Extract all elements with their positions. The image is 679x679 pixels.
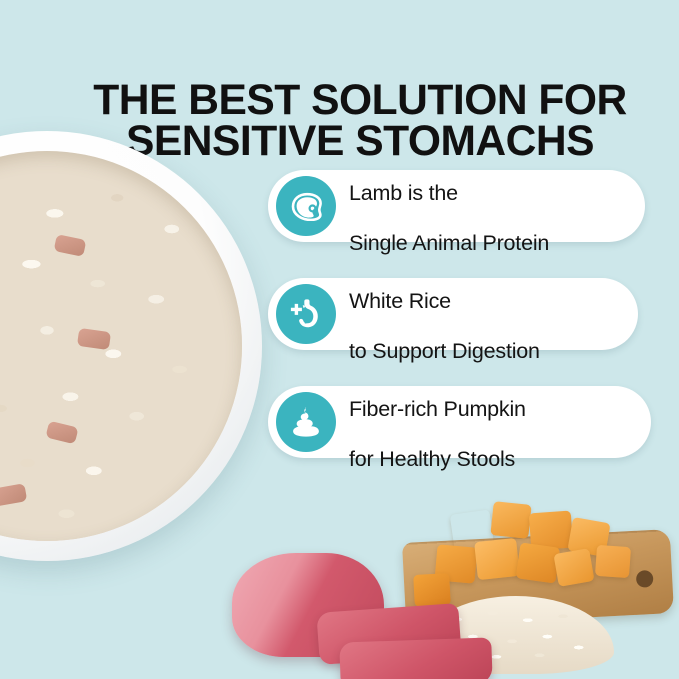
rice-pile — [418, 596, 614, 674]
meat-chunk — [45, 421, 78, 445]
feature-pill-protein[interactable]: Lamb is the Single Animal Protein — [268, 170, 645, 242]
feature-pill-text: White Rice to Support Digestion — [349, 264, 540, 364]
feature-line-2: Single Animal Protein — [349, 231, 549, 255]
lamb-slice — [316, 603, 461, 665]
lamb-slice — [339, 637, 493, 679]
food-rice-texture — [0, 151, 242, 541]
dog-food-bowl — [0, 131, 262, 679]
pumpkin-cube — [595, 545, 631, 578]
pumpkin-cube — [474, 538, 520, 580]
meat-chunk — [77, 328, 111, 350]
pumpkin-cube — [6, 383, 42, 415]
stomach-health-icon — [276, 284, 336, 344]
pumpkin-cube — [516, 542, 561, 583]
pumpkin-cube — [413, 573, 451, 607]
feature-pill-text: Lamb is the Single Animal Protein — [349, 156, 549, 256]
promo-canvas: THE BEST SOLUTION FOR SENSITIVE STOMACHS — [0, 0, 679, 679]
feature-line-1: Lamb is the — [349, 181, 458, 205]
pumpkin-cube — [490, 501, 531, 539]
feature-line-1: Fiber-rich Pumpkin — [349, 397, 526, 421]
pumpkin-cube — [101, 454, 133, 482]
feature-pill-fiber[interactable]: Fiber-rich Pumpkin for Healthy Stools — [268, 386, 651, 458]
meat-chunk — [0, 484, 28, 508]
feature-line-2: for Healthy Stools — [349, 447, 515, 471]
feature-pill-digestion[interactable]: White Rice to Support Digestion — [268, 278, 638, 350]
bowl-interior — [0, 151, 242, 541]
pumpkin-cube — [553, 548, 594, 587]
pumpkin-cube — [529, 511, 573, 551]
pumpkin-cube — [567, 517, 610, 557]
stool-icon — [276, 392, 336, 452]
feature-line-2: to Support Digestion — [349, 339, 540, 363]
lamb-roast — [232, 553, 384, 657]
pumpkin-cube — [22, 266, 56, 296]
pumpkin-cube — [450, 509, 495, 550]
meat-chunk — [53, 234, 86, 257]
board-grain — [402, 529, 674, 627]
feature-pill-text: Fiber-rich Pumpkin for Healthy Stools — [349, 372, 526, 472]
feature-line-1: White Rice — [349, 289, 451, 313]
pumpkin-cube — [435, 544, 478, 583]
feature-list: Lamb is the Single Animal Protein White … — [268, 170, 651, 458]
steak-cut-icon — [276, 176, 336, 236]
wooden-cutting-board — [402, 529, 674, 627]
